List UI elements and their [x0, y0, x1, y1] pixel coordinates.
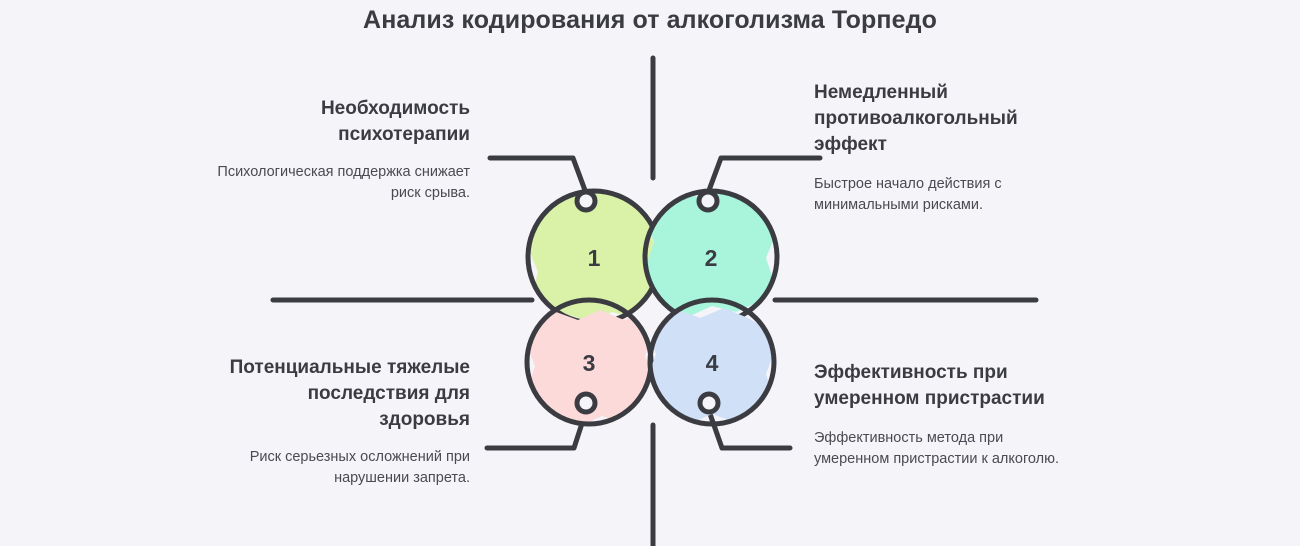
venn-circle-4-number: 4	[706, 350, 719, 376]
venn-circle-3-number: 3	[583, 350, 596, 376]
quadrant-top-left: Необходимость психотерапии Психологическ…	[215, 96, 470, 204]
quadrant-top-right-description: Быстрое начало действия с минимальными р…	[814, 174, 1074, 216]
quadrant-bottom-left: Потенциальные тяжелые последствия для зд…	[215, 355, 470, 489]
venn-circle-2-number: 2	[705, 245, 718, 271]
venn-circle-3-connector-ring	[577, 394, 595, 412]
venn-diagram: 1 2 3 4	[0, 0, 1300, 546]
venn-circle-4-connector-ring	[700, 394, 718, 412]
diagram-canvas: Анализ кодирования от алкоголизма Торпед…	[0, 0, 1300, 546]
connector-2	[708, 158, 820, 193]
venn-circle-1-number: 1	[588, 245, 601, 271]
quadrant-top-right: Немедленный противоалкогольный эффект Бы…	[814, 80, 1074, 216]
venn-circle-4[interactable]: 4	[648, 300, 774, 424]
quadrant-bottom-left-title: Потенциальные тяжелые последствия для зд…	[215, 355, 470, 433]
quadrant-top-left-title: Необходимость психотерапии	[215, 96, 470, 148]
quadrant-top-right-title: Немедленный противоалкогольный эффект	[814, 80, 1074, 158]
venn-circle-1-connector-ring	[577, 192, 595, 210]
venn-circle-3[interactable]: 3	[527, 300, 653, 426]
connector-1	[490, 158, 586, 193]
connector-lines	[487, 158, 820, 448]
quadrant-bottom-right: Эффективность при умеренном пристрастии …	[814, 360, 1079, 470]
venn-circle-2-connector-ring	[699, 192, 717, 210]
venn-circle-2[interactable]: 2	[645, 188, 777, 323]
quadrant-bottom-right-description: Эффективность метода при умеренном прист…	[814, 428, 1079, 470]
quadrant-bottom-left-description: Риск серьезных осложнений при нарушении …	[215, 447, 470, 489]
quadrant-top-left-description: Психологическая поддержка снижает риск с…	[215, 162, 470, 204]
quadrant-bottom-right-title: Эффективность при умеренном пристрастии	[814, 360, 1079, 412]
